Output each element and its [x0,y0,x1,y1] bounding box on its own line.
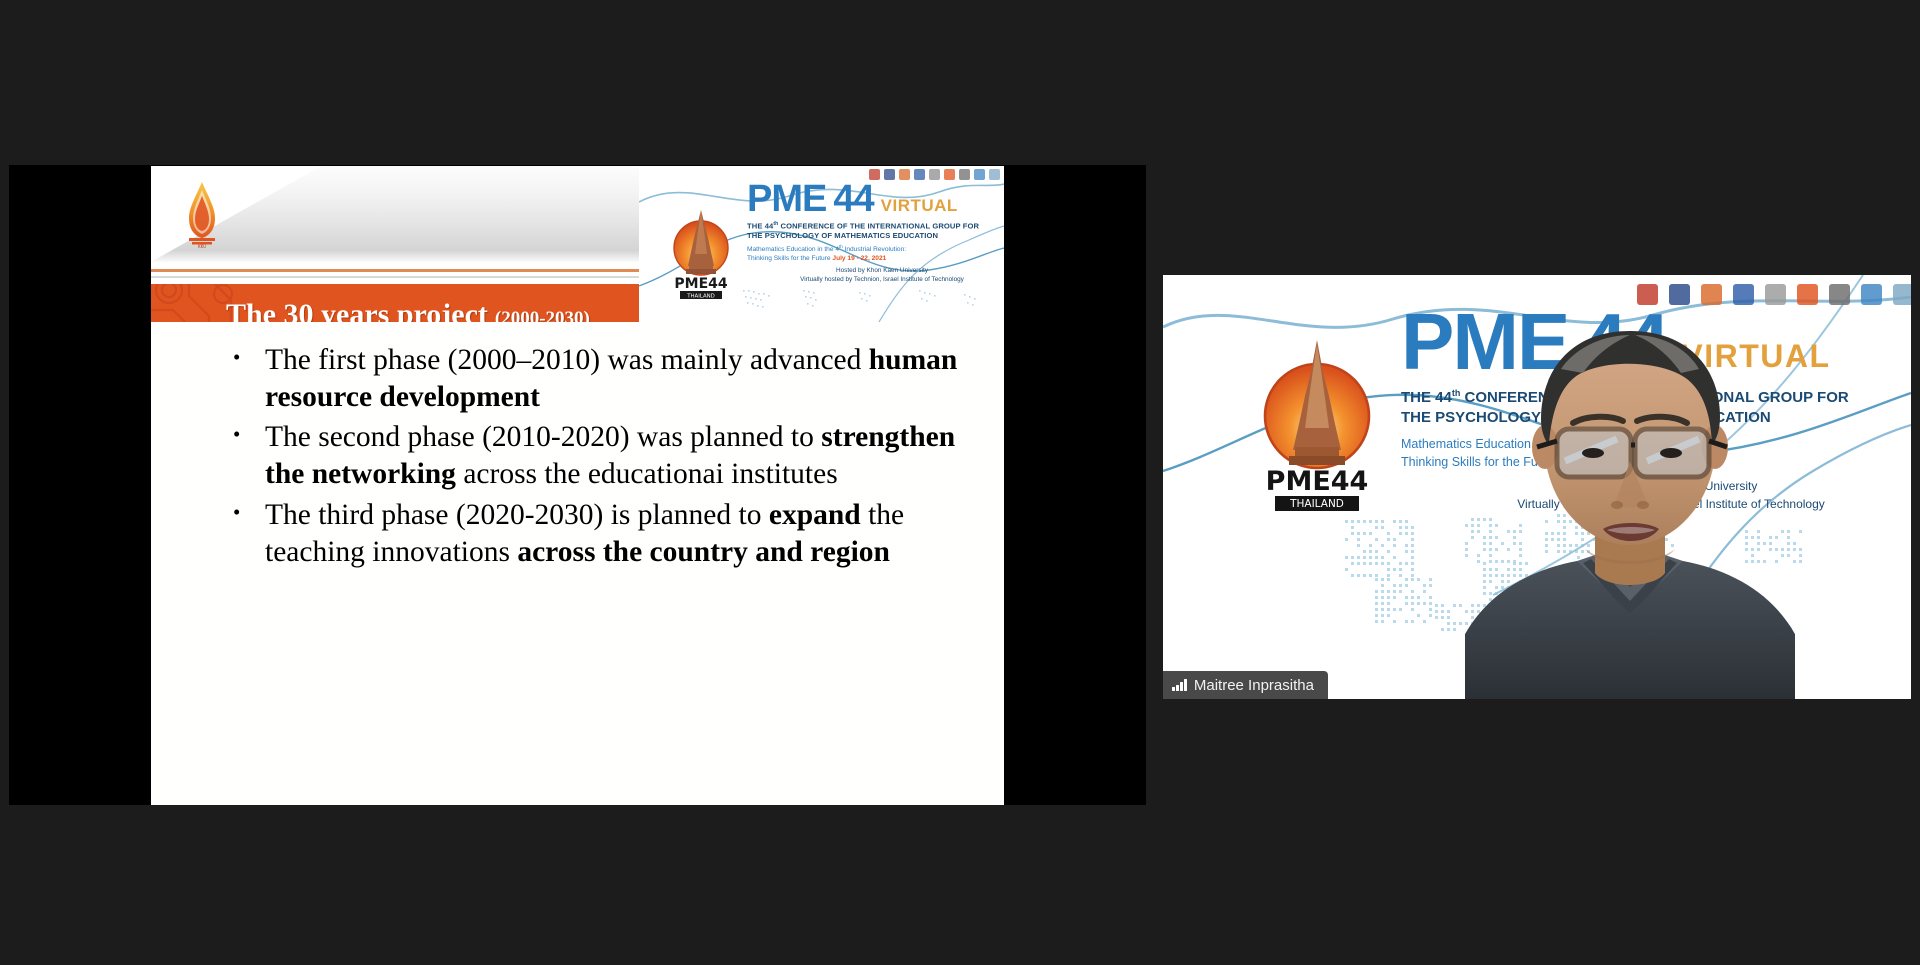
svg-text:KKU: KKU [198,244,206,249]
bullet-text: The first phase (2000–2010) was mainly a… [265,344,869,376]
video-conf-l1-pre: THE 44 [1401,389,1452,406]
slide-title-bar: The 30 years project(2000-2030) [151,284,644,322]
banner-host-l1: Hosted by Khon Kaen University [836,267,928,274]
banner-conference-lines: THE 44th CONFERENCE OF THE INTERNATIONAL… [747,221,999,241]
temple-logo [899,169,910,180]
banner-edition-number: 44 [833,180,873,218]
participant-webcam-image [1465,311,1795,699]
sunrise-emblem-logo [944,169,955,180]
slide-pme-banner: PME44 THAILAND PME 44 VIRTUAL THE 44th C… [639,166,1004,322]
svg-text:PME44: PME44 [1266,466,1369,497]
banner-world-map-dots [739,284,999,320]
slide-title-main: The 30 years project [226,298,488,322]
star-emblem-logo [989,169,1000,180]
slide-header: KKU The 30 year [151,166,1004,322]
technion-logo [884,169,895,180]
slide-body: The first phase (2000–2010) was mainly a… [151,332,1004,805]
participant-video-tile[interactable]: PME44 THAILAND PME 44 VIRTUAL THE 44th C… [1163,275,1911,699]
banner-pme-word: PME [747,180,826,218]
slide-header-rule-orange [151,269,641,272]
banner-conf-l1-pre: THE 44 [747,222,773,231]
shared-slide[interactable]: KKU The 30 year [151,166,1004,805]
svg-text:PME44: PME44 [674,276,727,292]
banner-conf-l2: THE PSYCHOLOGY OF MATHEMATICS EDUCATION [747,231,938,240]
bullet-text: across the educationai institutes [456,458,838,490]
banner-theme-lines: Mathematics Education in the 4th Industr… [747,244,999,264]
t15-logo [974,169,985,180]
banner-virtual-label: VIRTUAL [881,197,958,218]
slide-header-rule-grey [151,276,641,278]
participant-name: Maitree Inprasitha [1194,677,1314,694]
slide-title: The 30 years project(2000-2030) [226,298,590,322]
banner-date: July 19 - 22, 2021 [832,255,886,262]
atom-emblem-logo [929,169,940,180]
bullet-text: The second phase (2010-2020) was planned… [265,421,821,453]
banner-theme-l1-post: Industrial Revolution: [843,246,906,253]
banner-text-block: PME 44 VIRTUAL THE 44th CONFERENCE OF TH… [747,180,999,284]
banner-host-lines: Hosted by Khon Kaen University Virtually… [747,267,999,284]
banner-theme-l1-pre: Mathematics Education in the 4 [747,246,839,253]
bullet-emphasis: across the country and region [517,536,890,568]
slide-title-years: (2000-2030) [495,308,590,322]
khon-kaen-university-logo: KKU [179,180,225,250]
triangle-emblem-logo [914,169,925,180]
script-emblem-logo [959,169,970,180]
svg-text:THAILAND: THAILAND [686,294,715,300]
slide-bullet: The first phase (2000–2010) was mainly a… [225,342,972,415]
signal-strength-icon [1172,679,1187,691]
participant-name-badge: Maitree Inprasitha [1163,671,1328,699]
banner-host-l2: Virtually hosted by Technion, Israel Ins… [800,276,964,283]
bullet-text: The third phase (2020-2030) is planned t… [265,499,769,531]
banner-sponsor-logos [869,169,1000,180]
bullet-emphasis: expand [769,499,861,531]
slide-bullet: The third phase (2020-2030) is planned t… [225,497,972,570]
slide-bullet: The second phase (2010-2020) was planned… [225,419,972,492]
pme44-thailand-logo: PME44 THAILAND [1243,330,1391,515]
pme44-thailand-logo: PME44 THAILAND [663,204,739,300]
banner-conf-l1-post: CONFERENCE OF THE INTERNATIONAL GROUP FO… [778,222,979,231]
meeting-window: KKU The 30 year [0,0,1920,965]
banner-theme-l2: Thinking Skills for the Future [747,255,831,262]
